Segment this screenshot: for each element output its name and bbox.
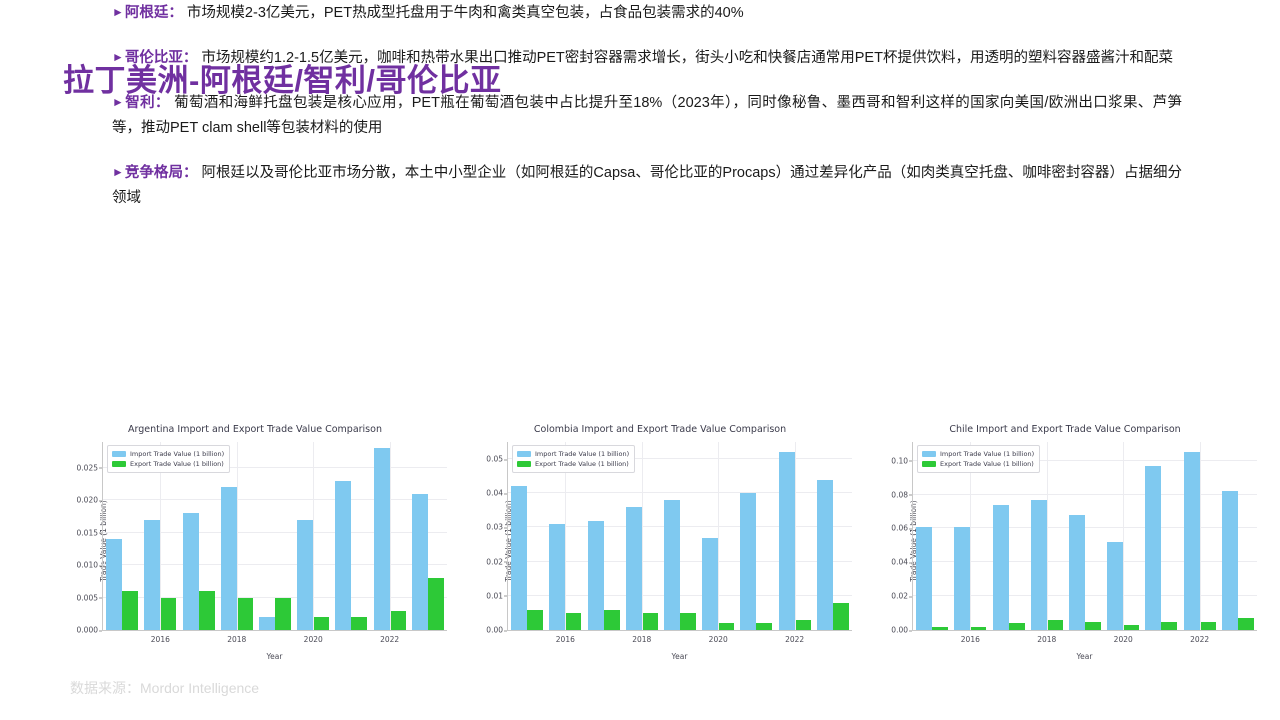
y-axis-tick: 0.03	[486, 523, 503, 532]
vertical-gridline	[642, 442, 643, 630]
export-bar	[428, 578, 444, 630]
bar-group	[332, 442, 370, 630]
y-axis-tick: 0.01	[486, 591, 503, 600]
vertical-gridline	[313, 442, 314, 630]
vertical-gridline	[390, 442, 391, 630]
y-axis-tick: 0.020	[77, 496, 98, 505]
export-bar	[1161, 622, 1177, 630]
legend-label: Import Trade Value (1 billion)	[940, 449, 1034, 459]
y-axis-tick: 0.00	[486, 626, 503, 635]
export-bar	[351, 617, 367, 630]
y-axis-tick: 0.10	[891, 456, 908, 465]
y-axis-tick: 0.02	[486, 557, 503, 566]
export-bar	[199, 591, 215, 630]
export-swatch-icon	[922, 461, 936, 467]
x-axis-tick: 2018	[227, 635, 246, 644]
x-axis-label: Year	[912, 652, 1257, 661]
bar-group	[1066, 442, 1104, 630]
x-axis-tick: 2022	[785, 635, 804, 644]
import-bar	[1069, 515, 1085, 630]
import-bar	[1145, 466, 1161, 630]
slide-root: 拉丁美洲-阿根廷/智利/哥伦比亚 ►阿根廷： 市场规模2-3亿美元，PET热成型…	[0, 0, 1280, 720]
legend-item: Export Trade Value (1 billion)	[922, 459, 1034, 469]
y-axis-tick: 0.005	[77, 593, 98, 602]
legend-item: Import Trade Value (1 billion)	[517, 449, 629, 459]
y-axis-tick: 0.00	[891, 626, 908, 635]
charts-row: Argentina Import and Export Trade Value …	[0, 418, 1280, 663]
x-axis-tick: 2022	[380, 635, 399, 644]
y-axis-tick: 0.05	[486, 455, 503, 464]
export-swatch-icon	[112, 461, 126, 467]
x-axis-label: Year	[102, 652, 447, 661]
triangle-bullet-icon: ►	[112, 50, 124, 64]
x-axis-tick: 2016	[151, 635, 170, 644]
y-axis-tick: 0.010	[77, 561, 98, 570]
import-bar	[183, 513, 199, 630]
import-bar	[779, 452, 795, 630]
x-axis-tick: 2018	[632, 635, 651, 644]
legend-label: Export Trade Value (1 billion)	[535, 459, 629, 469]
import-swatch-icon	[517, 451, 531, 457]
y-axis-tick: 0.015	[77, 528, 98, 537]
vertical-gridline	[237, 442, 238, 630]
chart-1: Colombia Import and Export Trade Value C…	[460, 418, 860, 663]
vertical-gridline	[1047, 442, 1048, 630]
bar-group	[1142, 442, 1180, 630]
y-axis-tick: 0.02	[891, 592, 908, 601]
bullet-text: 市场规模约1.2-1.5亿美元，咖啡和热带水果出口推动PET密封容器需求增长，街…	[201, 50, 1173, 66]
import-bar	[144, 520, 160, 630]
import-bar	[817, 480, 833, 630]
x-axis-tick: 2018	[1037, 635, 1056, 644]
chart-title: Chile Import and Export Trade Value Comp…	[865, 424, 1265, 435]
export-bar	[390, 611, 406, 630]
export-bar	[1238, 618, 1254, 630]
import-bar	[1107, 542, 1123, 630]
chart-title: Colombia Import and Export Trade Value C…	[460, 424, 860, 435]
vertical-gridline	[1123, 442, 1124, 630]
import-bar	[954, 527, 970, 630]
bullet-paragraph: ►阿根廷： 市场规模2-3亿美元，PET热成型托盘用于牛肉和禽类真空包装，占食品…	[112, 0, 1182, 26]
export-bar	[795, 620, 811, 630]
legend-label: Import Trade Value (1 billion)	[130, 449, 224, 459]
x-axis-label: Year	[507, 652, 852, 661]
triangle-bullet-icon: ►	[112, 95, 124, 109]
export-bar	[313, 617, 329, 630]
bullet-list: ►阿根廷： 市场规模2-3亿美元，PET热成型托盘用于牛肉和禽类真空包装，占食品…	[112, 0, 1182, 230]
bullet-label: 竞争格局：	[125, 165, 198, 181]
export-bar	[680, 613, 696, 630]
chart-0: Argentina Import and Export Trade Value …	[55, 418, 455, 663]
legend-item: Import Trade Value (1 billion)	[922, 449, 1034, 459]
bar-group	[409, 442, 447, 630]
bar-group	[1219, 442, 1257, 630]
import-bar	[1031, 500, 1047, 630]
import-bar	[1222, 491, 1238, 630]
import-bar	[626, 507, 642, 630]
legend-item: Import Trade Value (1 billion)	[112, 449, 224, 459]
chart-2: Chile Import and Export Trade Value Comp…	[865, 418, 1265, 663]
legend-label: Export Trade Value (1 billion)	[940, 459, 1034, 469]
import-bar	[106, 539, 122, 630]
legend-item: Export Trade Value (1 billion)	[517, 459, 629, 469]
export-bar	[756, 623, 772, 630]
y-axis-tick: 0.04	[891, 558, 908, 567]
bar-group	[256, 442, 294, 630]
import-bar	[374, 448, 390, 630]
export-bar	[122, 591, 138, 630]
y-axis-tick: 0.06	[891, 524, 908, 533]
export-bar	[237, 598, 253, 630]
chart-title: Argentina Import and Export Trade Value …	[55, 424, 455, 435]
import-bar	[993, 505, 1009, 630]
export-bar	[932, 627, 948, 630]
export-bar	[1085, 622, 1101, 630]
import-bar	[511, 486, 527, 630]
y-axis-tick: 0.08	[891, 490, 908, 499]
bullet-label: 哥伦比亚：	[125, 50, 198, 66]
import-bar	[549, 524, 565, 630]
x-axis-tick: 2022	[1190, 635, 1209, 644]
vertical-gridline	[1200, 442, 1201, 630]
bar-group	[814, 442, 852, 630]
x-axis-tick: 2016	[556, 635, 575, 644]
import-bar	[588, 521, 604, 630]
export-bar	[642, 613, 658, 630]
bullet-paragraph: ►竞争格局： 阿根廷以及哥伦比亚市场分散，本土中小型企业（如阿根廷的Capsa、…	[112, 160, 1182, 211]
x-axis-tick: 2016	[961, 635, 980, 644]
legend-label: Export Trade Value (1 billion)	[130, 459, 224, 469]
chart-legend: Import Trade Value (1 billion)Export Tra…	[512, 445, 635, 473]
x-axis-tick: 2020	[1114, 635, 1133, 644]
export-swatch-icon	[517, 461, 531, 467]
export-bar	[1200, 622, 1216, 630]
export-bar	[565, 613, 581, 630]
bullet-paragraph: ►智利： 葡萄酒和海鲜托盘包装是核心应用，PET瓶在葡萄酒包装中占比提升至18%…	[112, 90, 1182, 141]
import-bar	[740, 493, 756, 630]
import-bar	[259, 617, 275, 630]
chart-legend: Import Trade Value (1 billion)Export Tra…	[107, 445, 230, 473]
triangle-bullet-icon: ►	[112, 165, 124, 179]
export-bar	[970, 627, 986, 630]
import-bar	[335, 481, 351, 630]
triangle-bullet-icon: ►	[112, 5, 124, 19]
import-bar	[221, 487, 237, 630]
export-bar	[1009, 623, 1025, 630]
import-bar	[664, 500, 680, 630]
y-axis-tick: 0.04	[486, 489, 503, 498]
export-bar	[275, 598, 291, 630]
export-bar	[833, 603, 849, 630]
export-bar	[718, 623, 734, 630]
import-bar	[702, 538, 718, 630]
bar-group	[737, 442, 775, 630]
bullet-text: 阿根廷以及哥伦比亚市场分散，本土中小型企业（如阿根廷的Capsa、哥伦比亚的Pr…	[112, 165, 1182, 206]
import-bar	[916, 527, 932, 630]
y-axis-tick: 0.000	[77, 626, 98, 635]
bullet-text: 市场规模2-3亿美元，PET热成型托盘用于牛肉和禽类真空包装，占食品包装需求的4…	[187, 5, 744, 21]
bullet-label: 阿根廷：	[125, 5, 183, 21]
x-axis-tick: 2020	[304, 635, 323, 644]
y-axis-tick: 0.025	[77, 463, 98, 472]
import-swatch-icon	[922, 451, 936, 457]
vertical-gridline	[795, 442, 796, 630]
export-bar	[160, 598, 176, 630]
legend-label: Import Trade Value (1 billion)	[535, 449, 629, 459]
data-source-footer: 数据来源：Mordor Intelligence	[70, 678, 259, 698]
export-bar	[1123, 625, 1139, 630]
bullet-text: 葡萄酒和海鲜托盘包装是核心应用，PET瓶在葡萄酒包装中占比提升至18%（2023…	[112, 95, 1182, 136]
chart-legend: Import Trade Value (1 billion)Export Tra…	[917, 445, 1040, 473]
import-bar	[412, 494, 428, 630]
import-bar	[297, 520, 313, 630]
import-swatch-icon	[112, 451, 126, 457]
x-axis-tick: 2020	[709, 635, 728, 644]
bullet-paragraph: ►哥伦比亚： 市场规模约1.2-1.5亿美元，咖啡和热带水果出口推动PET密封容…	[112, 45, 1182, 71]
bullet-label: 智利：	[125, 95, 170, 111]
legend-item: Export Trade Value (1 billion)	[112, 459, 224, 469]
export-bar	[527, 610, 543, 631]
bar-group	[661, 442, 699, 630]
export-bar	[604, 610, 620, 631]
export-bar	[1047, 620, 1063, 630]
vertical-gridline	[718, 442, 719, 630]
import-bar	[1184, 452, 1200, 630]
